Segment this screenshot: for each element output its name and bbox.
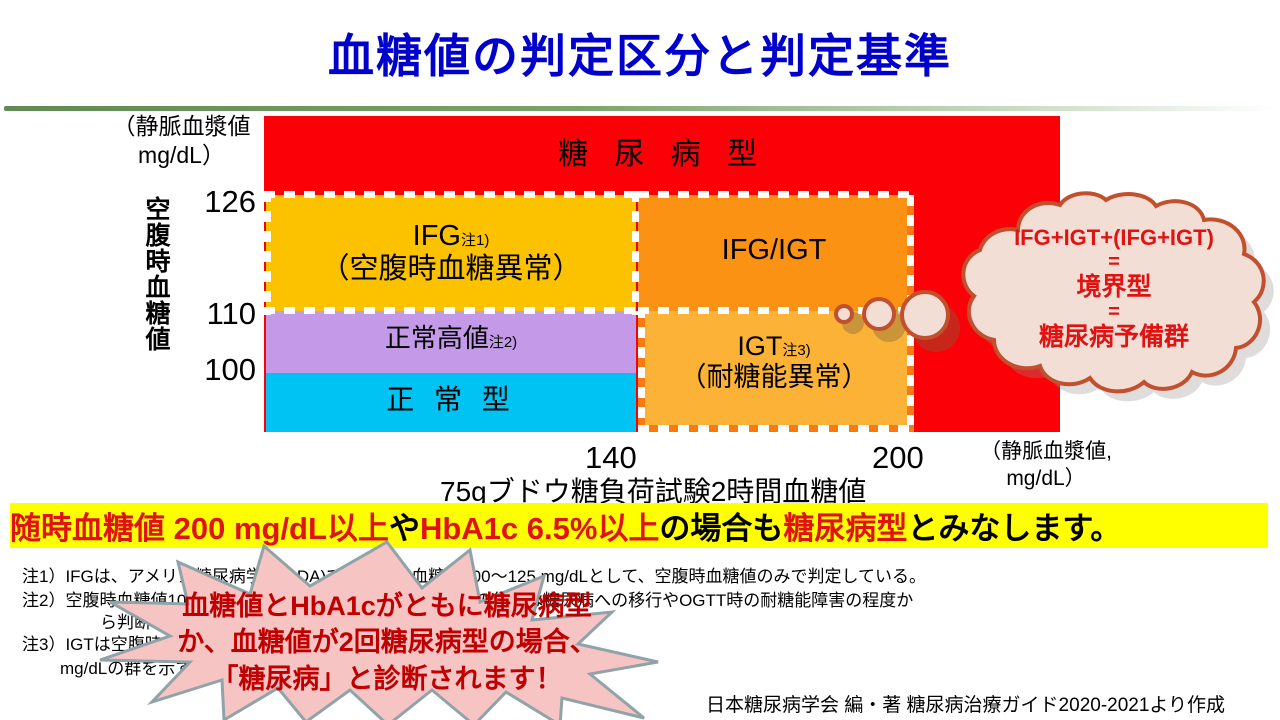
starburst-line-2: か、血糖値が2回糖尿病型の場合、	[92, 624, 682, 660]
banner-part-5: 糖尿病型	[783, 503, 907, 548]
thought-bubble-medium	[862, 297, 896, 331]
y-tick-100: 100	[176, 352, 256, 388]
thought-bubble-large	[900, 290, 950, 340]
y-axis-unit: （静脈血漿値 mg/dL）	[104, 112, 259, 170]
label-diabetes: 糖 尿 病 型	[264, 138, 1060, 173]
label-igt-main: IGT	[737, 331, 782, 361]
label-normal-high-note: 注2)	[489, 334, 517, 351]
label-ifg-note: 注1)	[461, 232, 489, 249]
y-tick-110: 110	[176, 296, 256, 332]
cloud-line-3: 糖尿病予備群	[948, 323, 1280, 351]
x-axis-unit-line2: mg/dL）	[966, 465, 1126, 492]
starburst-callout: 血糖値とHbA1cがともに糖尿病型 か、血糖値が2回糖尿病型の場合、 「糖尿病」…	[92, 540, 682, 720]
label-igt-note: 注3)	[782, 342, 810, 359]
y-axis-unit-line1: （静脈血漿値	[104, 112, 259, 141]
source-credit: 日本糖尿病学会 編・著 糖尿病治療ガイド2020-2021より作成	[706, 690, 1225, 717]
cloud-callout: IFG+IGT+(IFG+IGT) = 境界型 = 糖尿病予備群	[948, 186, 1280, 414]
label-ifg-line1: IFG注1)	[266, 220, 636, 253]
label-ifg-sub: （空腹時血糖異常）	[266, 253, 636, 286]
cloud-equals-2: =	[948, 301, 1280, 323]
y-axis-unit-line2: mg/dL）	[104, 141, 259, 170]
label-igt: IGT注3) （耐糖能異常）	[638, 331, 910, 393]
cloud-line-1: IFG+IGT+(IFG+IGT)	[948, 226, 1280, 251]
dash-top-ifgigt	[638, 191, 914, 198]
y-tick-126: 126	[176, 184, 256, 220]
cloud-line-2: 境界型	[948, 273, 1280, 301]
x-tick-200: 200	[872, 440, 924, 476]
x-axis-unit-line1: （静脈血漿値,	[966, 438, 1126, 465]
cloud-equals-1: =	[948, 251, 1280, 273]
header-divider	[4, 106, 1276, 111]
y-axis-label: 空腹時血糖値	[140, 196, 174, 352]
label-normal-high: 正常高値注2)	[266, 324, 636, 354]
label-ifg-igt: IFG/IGT	[638, 234, 910, 267]
x-axis-unit: （静脈血漿値, mg/dL）	[966, 438, 1126, 493]
starburst-line-1: 血糖値とHbA1cがともに糖尿病型	[92, 588, 682, 624]
dash-top-ifg	[264, 191, 638, 198]
slide-root: 血糖値の判定区分と判定基準 （静脈血漿値 mg/dL） 空腹時血糖値 126 1…	[0, 0, 1280, 720]
cloud-callout-text: IFG+IGT+(IFG+IGT) = 境界型 = 糖尿病予備群	[948, 226, 1280, 351]
glucose-classification-chart: 糖 尿 病 型 IFG注1) （空腹時血糖異常） IFG/IGT 正常高値注2)…	[264, 116, 1060, 432]
starburst-text: 血糖値とHbA1cがともに糖尿病型 か、血糖値が2回糖尿病型の場合、 「糖尿病」…	[92, 588, 682, 697]
label-normal-high-main: 正常高値	[385, 323, 489, 353]
label-normal: 正 常 型	[266, 384, 636, 416]
banner-part-6: とみなします。	[907, 503, 1121, 548]
label-igt-sub: （耐糖能異常）	[638, 362, 910, 393]
label-igt-line1: IGT注3)	[638, 331, 910, 362]
page-title: 血糖値の判定区分と判定基準	[0, 20, 1280, 86]
thought-bubble-small	[834, 304, 854, 324]
starburst-line-3: 「糖尿病」と診断されます！	[92, 661, 682, 697]
label-ifg: IFG注1) （空腹時血糖異常）	[266, 220, 636, 287]
dash-bottom-ifg	[264, 307, 638, 314]
dash-bottom-igt	[638, 425, 914, 432]
label-ifg-main: IFG	[413, 220, 461, 252]
